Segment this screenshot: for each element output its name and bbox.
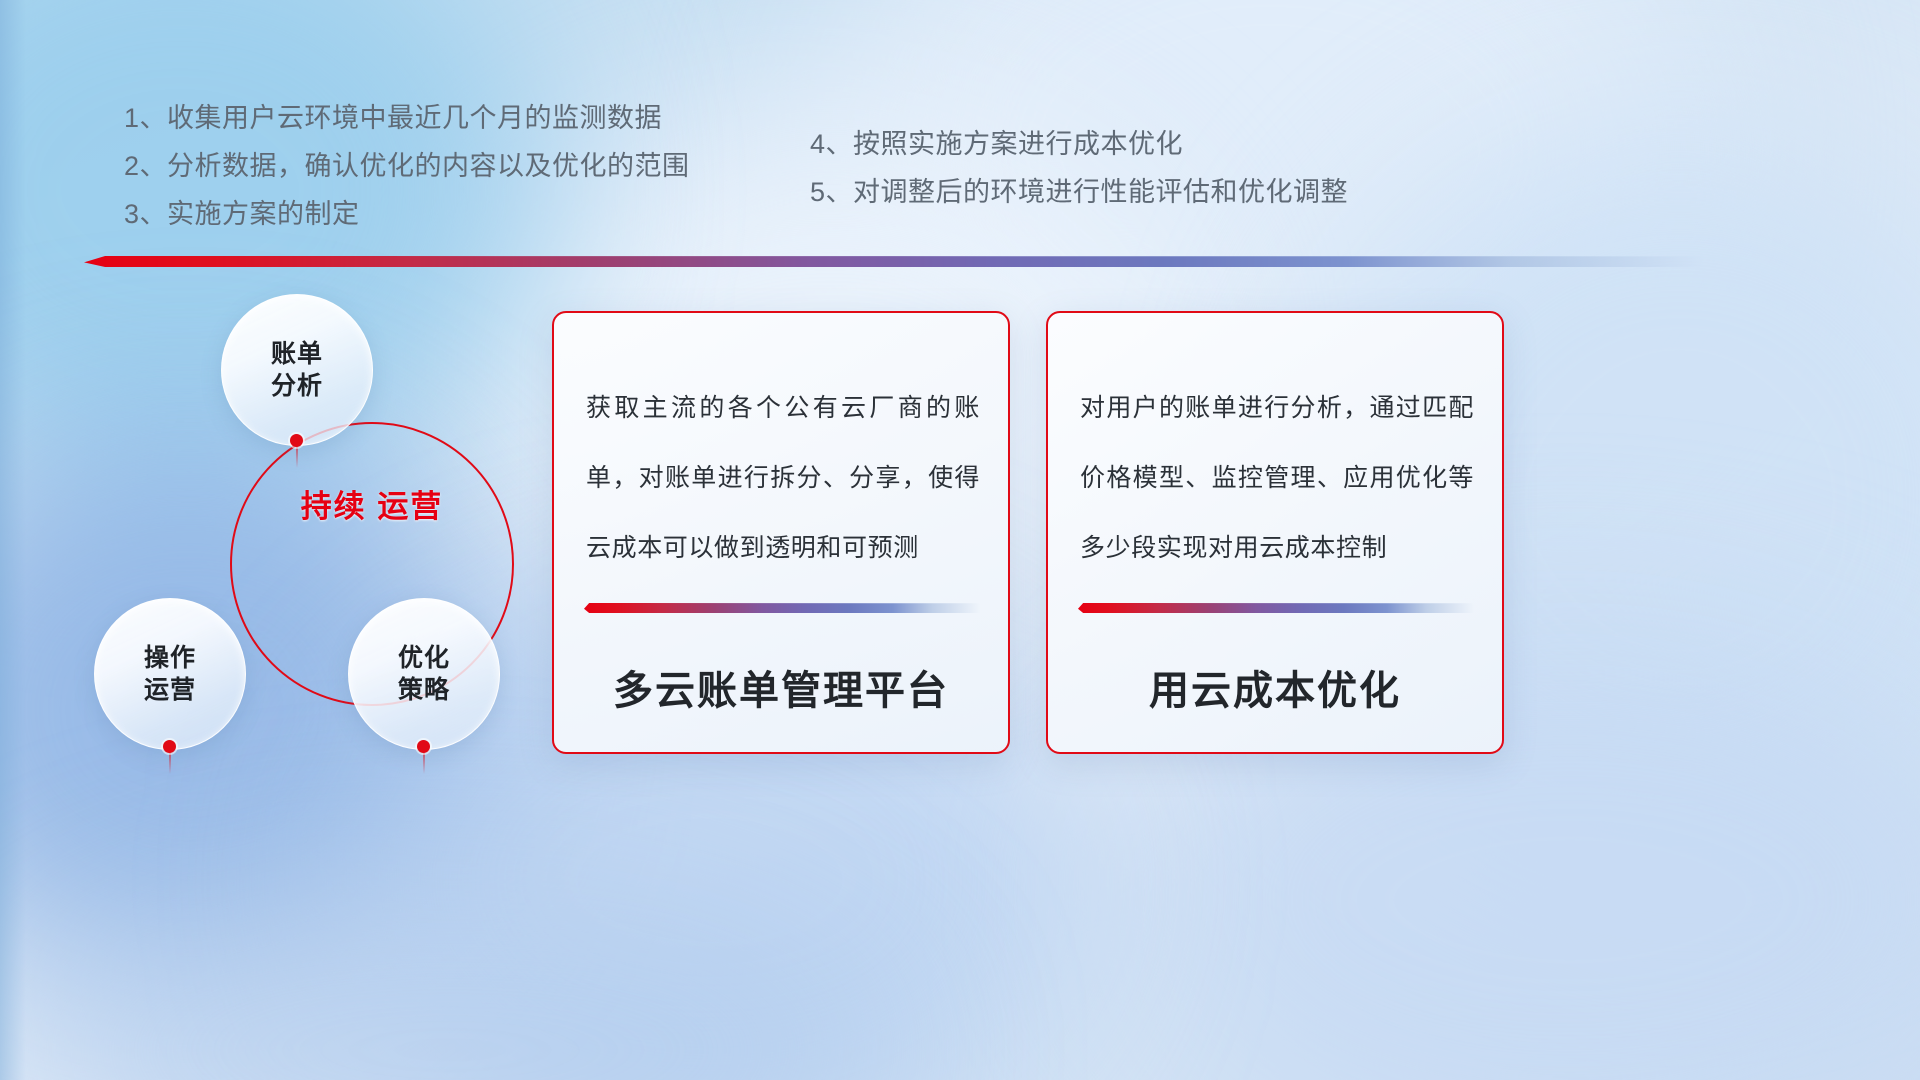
card-description: 获取主流的各个公有云厂商的账单，对账单进行拆分、分享，使得云成本可以做到透明和可… [586, 373, 980, 583]
gradient-bar [584, 603, 980, 613]
node-label-line-2: 分析 [271, 370, 323, 402]
diagram-node-optimization-strategy[interactable]: 优化 策略 [348, 598, 500, 750]
card-divider-rule [1078, 603, 1474, 613]
diagram-node-dot [290, 434, 303, 447]
diagram-node-tail [296, 446, 298, 468]
node-label-line-1: 操作 [144, 642, 196, 674]
diagram-node-dot [163, 740, 176, 753]
gradient-bar [84, 256, 1704, 267]
center-label-line-2: 运营 [377, 489, 443, 524]
gradient-bar [1078, 603, 1474, 613]
steps-section: 1、收集用户云环境中最近几个月的监测数据 2、分析数据，确认优化的内容以及优化的… [0, 0, 1920, 300]
steps-right-column: 4、按照实施方案进行成本优化 5、对调整后的环境进行性能评估和优化调整 [810, 120, 1348, 216]
center-label-line-1: 持续 [301, 489, 367, 524]
card-divider-rule [584, 603, 980, 613]
card-title: 多云账单管理平台 [554, 658, 1008, 716]
steps-left-column: 1、收集用户云环境中最近几个月的监测数据 2、分析数据，确认优化的内容以及优化的… [124, 94, 690, 238]
node-label-line-2: 运营 [144, 674, 196, 706]
cycle-diagram: 持续 运营 账单 分析 操作 运营 优化 策略 [78, 288, 548, 788]
diagram-node-tail [169, 752, 171, 774]
section-divider-rule [84, 256, 1704, 267]
diagram-node-bill-analysis[interactable]: 账单 分析 [221, 294, 373, 446]
diagram-node-operations[interactable]: 操作 运营 [94, 598, 246, 750]
step-item: 5、对调整后的环境进行性能评估和优化调整 [810, 168, 1348, 216]
node-label-line-1: 账单 [271, 338, 323, 370]
diagram-node-dot [417, 740, 430, 753]
diagram-center-label: 持续 运营 [230, 488, 514, 526]
step-item: 2、分析数据，确认优化的内容以及优化的范围 [124, 142, 690, 190]
step-item: 4、按照实施方案进行成本优化 [810, 120, 1348, 168]
card-title: 用云成本优化 [1048, 658, 1502, 716]
feature-card-multicloud-billing[interactable]: 获取主流的各个公有云厂商的账单，对账单进行拆分、分享，使得云成本可以做到透明和可… [552, 311, 1010, 754]
node-label-line-1: 优化 [398, 642, 450, 674]
step-item: 1、收集用户云环境中最近几个月的监测数据 [124, 94, 690, 142]
step-item: 3、实施方案的制定 [124, 190, 690, 238]
diagram-node-tail [423, 752, 425, 774]
node-label-line-2: 策略 [398, 674, 450, 706]
card-description: 对用户的账单进行分析，通过匹配价格模型、监控管理、应用优化等多少段实现对用云成本… [1080, 373, 1474, 583]
feature-card-cloud-cost-optimization[interactable]: 对用户的账单进行分析，通过匹配价格模型、监控管理、应用优化等多少段实现对用云成本… [1046, 311, 1504, 754]
